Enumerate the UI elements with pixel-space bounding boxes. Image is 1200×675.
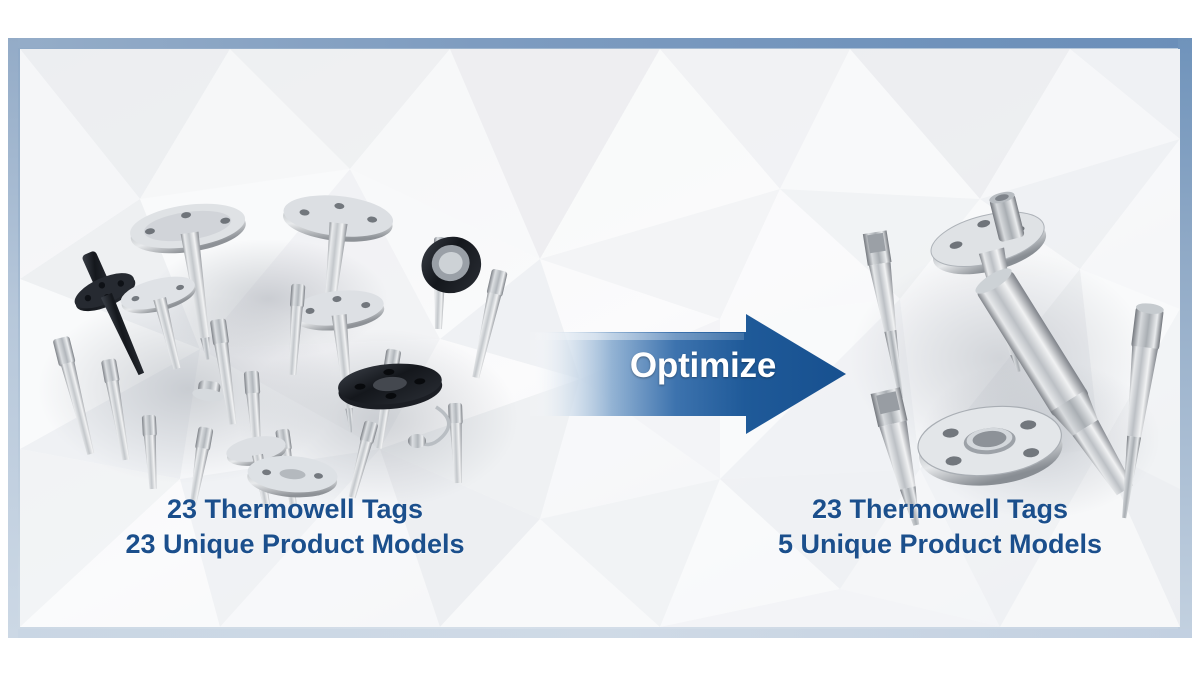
thermowell-parts-right xyxy=(840,189,1170,529)
thermowell-cluster-after xyxy=(840,189,1170,529)
thermowell-cluster-before xyxy=(38,189,538,519)
caption-before-line2: 23 Unique Product Models xyxy=(45,527,545,562)
caption-before: 23 Thermowell Tags 23 Unique Product Mod… xyxy=(45,492,545,562)
thermowell-parts-left xyxy=(38,189,538,519)
slide-border-left xyxy=(8,38,18,638)
caption-after: 23 Thermowell Tags 5 Unique Product Mode… xyxy=(700,492,1180,562)
optimize-arrow: Optimize xyxy=(530,304,860,444)
caption-after-line1: 23 Thermowell Tags xyxy=(700,492,1180,527)
caption-after-line2: 5 Unique Product Models xyxy=(700,527,1180,562)
slide-border-top xyxy=(8,38,1192,48)
slide-root: Optimize 23 Thermowell Tags 23 Unique Pr… xyxy=(0,0,1200,675)
slide-border-right xyxy=(1178,38,1192,638)
slide-border-bottom xyxy=(8,629,1192,638)
arrow-label: Optimize xyxy=(613,346,793,386)
caption-before-line1: 23 Thermowell Tags xyxy=(45,492,545,527)
